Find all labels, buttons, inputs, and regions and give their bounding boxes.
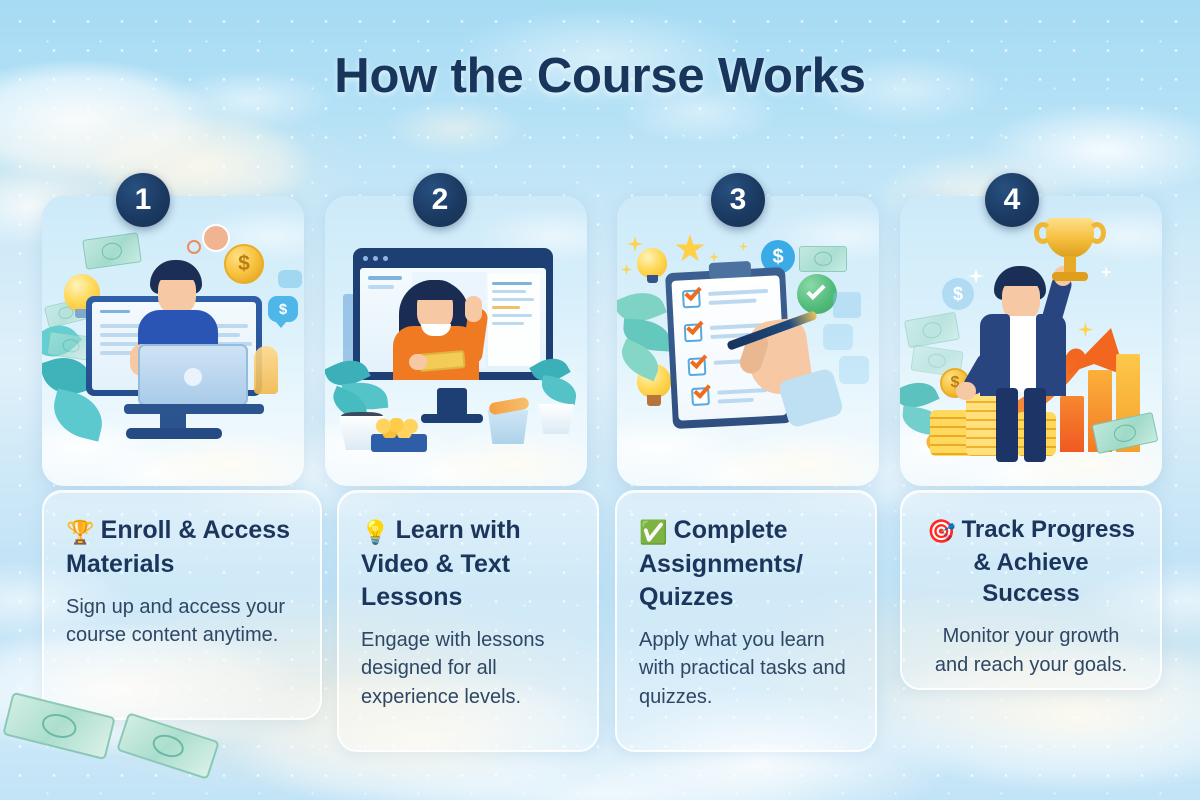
monitor-foot [421,414,483,423]
step-illustration-4: $ $ [900,196,1162,486]
instructor-hand-pointing [465,296,482,322]
step-heading-4: 🎯Track Progress & Achieve Success [924,514,1138,610]
floating-money-bill [116,712,220,780]
bucket [485,410,531,444]
wheat-decor [254,346,278,394]
browser-dot [383,256,388,261]
avatar-bubble-decor [202,224,230,252]
step-illustration-1: $ $ [42,196,304,486]
step-body-2: Engage with lessons designed for all exp… [361,626,575,711]
trophy-base [1052,272,1088,281]
laptop-base [124,404,264,414]
trophy-handle [1088,222,1106,244]
step-badge-4: 4 [985,173,1039,227]
step-heading-3: ✅Complete Assignments/ Quizzes [639,514,853,614]
person-trousers [1024,388,1046,462]
browser-dot [373,256,378,261]
step-body-3: Apply what you learn with practical task… [639,626,853,711]
monitor-neck [437,388,467,416]
lightbulb-decor [637,248,667,284]
chat-bubble-decor [278,270,302,288]
person-trousers [996,388,1018,462]
target-dart-icon: 🎯 [927,518,956,544]
faded-icon-decor [833,292,861,318]
monitor-base [126,428,222,439]
trophy-handle [1034,222,1052,244]
step-card-4: 🎯Track Progress & Achieve Success Monito… [900,490,1162,690]
step-body-1: Sign up and access your course content a… [66,593,298,650]
laptop-logo [184,368,202,386]
fruit-pile [373,418,425,438]
faded-icon-decor [839,356,869,384]
step-heading-text: Enroll & Access Materials [66,516,290,578]
page-title: How the Course Works [0,48,1200,104]
step-body-4: Monitor your growth and reach your goals… [924,622,1138,679]
browser-dot [363,256,368,261]
person-hand [956,382,976,400]
instructor-hand [409,354,427,370]
ring-decor [187,240,201,254]
step-card-1: 🏆Enroll & Access Materials Sign up and a… [42,490,322,720]
step-heading-2: 💡Learn with Video & Text Lessons [361,514,575,614]
step-badge-3: 3 [711,173,765,227]
step-badge-2: 2 [413,173,467,227]
lightbulb-icon: 💡 [361,519,390,545]
infographic-canvas: How the Course Works $ $ [0,0,1200,800]
step-heading-text: Track Progress & Achieve Success [962,516,1135,607]
faded-icon-decor [823,324,853,350]
step-illustration-3: $ [617,196,879,486]
step-card-3: ✅Complete Assignments/ Quizzes Apply wha… [615,490,877,752]
gold-coin-decor: $ [224,244,264,284]
step-card-2: 💡Learn with Video & Text Lessons Engage … [337,490,599,752]
chat-bubble-decor: $ [268,296,298,322]
step-illustration-2 [325,196,587,486]
checkmark-badge-icon: ✅ [639,519,668,545]
step-badge-1: 1 [116,173,170,227]
step-heading-1: 🏆Enroll & Access Materials [66,514,298,581]
trophy-icon: 🏆 [66,519,95,545]
bar-chart-bar [1060,396,1084,452]
money-bill-decor [799,246,847,272]
